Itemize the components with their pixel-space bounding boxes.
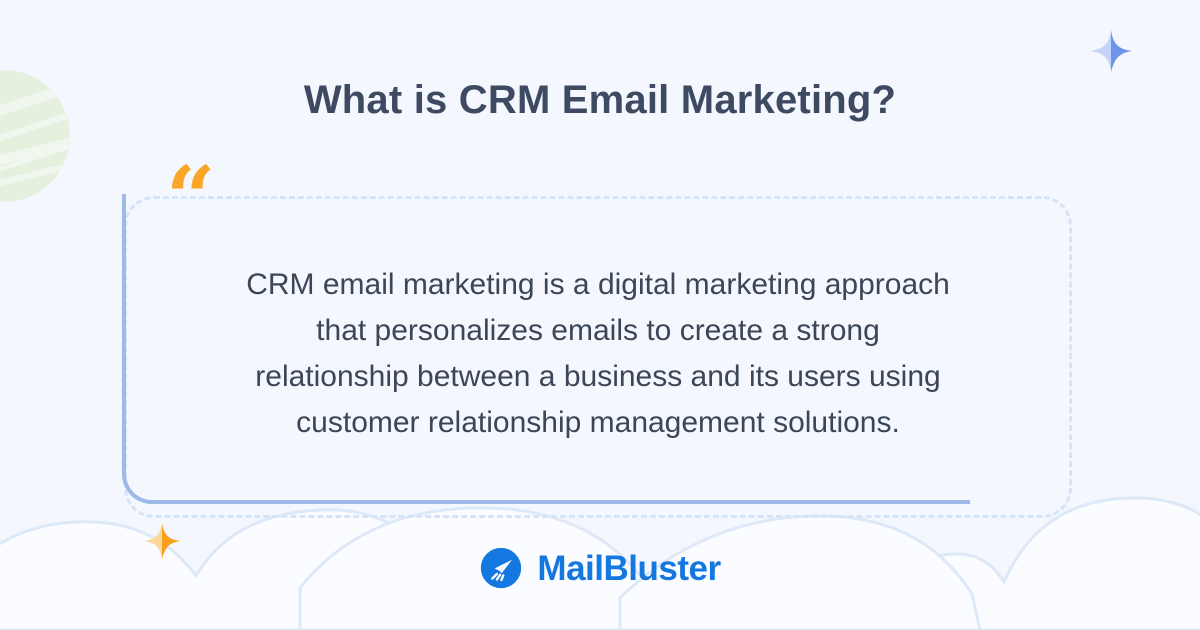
- brand-name: MailBluster: [537, 551, 720, 586]
- brand-logo: MailBluster: [0, 546, 1200, 590]
- quote-line: that personalizes emails to create a str…: [164, 308, 1032, 354]
- paper-plane-circle-icon: [479, 546, 523, 590]
- open-quote-icon: “: [166, 156, 213, 242]
- quote-card: “ CRM email marketing is a digital marke…: [124, 196, 1072, 518]
- page-title: What is CRM Email Marketing?: [0, 78, 1200, 123]
- poster-canvas: What is CRM Email Marketing? “ CRM email…: [0, 0, 1200, 630]
- quote-text: CRM email marketing is a digital marketi…: [164, 262, 1032, 446]
- sparkle-star-icon: [1088, 28, 1134, 74]
- quote-line: relationship between a business and its …: [164, 354, 1032, 400]
- quote-line: CRM email marketing is a digital marketi…: [164, 262, 1032, 308]
- quote-line: customer relationship management solutio…: [164, 400, 1032, 446]
